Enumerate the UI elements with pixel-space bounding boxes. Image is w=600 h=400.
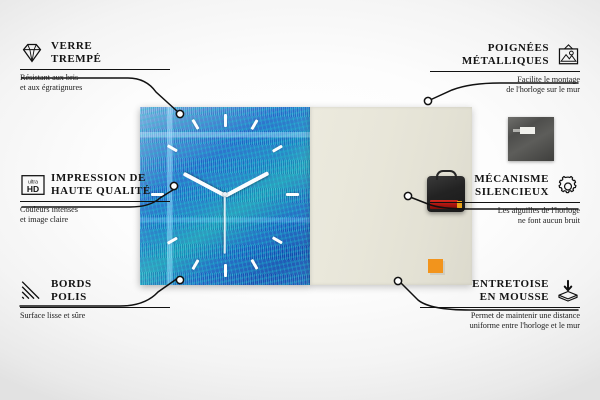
clock-tick [191,119,199,130]
callout-rule [20,201,170,202]
connector-dot [424,97,431,104]
clock-minute-hand [224,171,269,197]
clock-tick [167,145,178,153]
callout-sub-line1: Permet de maintenir une distance [420,311,580,321]
callout-mecanisme-silencieux: MÉCANISME SILENCIEUX Les aiguilles de l'… [430,173,580,227]
callout-rule [20,307,170,308]
clock-hour-hand [183,172,226,197]
foam-spacer [428,259,443,273]
clock-tick [224,264,227,277]
foam-spacer-icon [556,280,580,302]
callout-sub-line2: et aux égratignures [20,83,170,93]
clock-second-hand [224,195,226,253]
callout-poignees-metalliques: POIGNÉES MÉTALLIQUES Facilite le montage… [430,42,580,96]
product-image [140,107,472,285]
callout-title-line2: EN MOUSSE [472,291,549,304]
callout-title-line2: HAUTE QUALITÉ [51,185,151,198]
ultra-hd-icon: ultra HD [20,174,44,196]
clock-tick [191,259,199,270]
clock-tick [224,114,227,127]
callout-title-line1: BORDS [51,278,92,291]
callout-verre-trempe: VERRE TREMPÉ Résistant aux bris et aux é… [20,40,170,94]
callout-title-line1: VERRE [51,40,101,53]
callout-title-line1: POIGNÉES [462,42,549,55]
callout-rule [420,307,580,308]
polished-edge-icon [20,280,44,302]
clock-tick [250,259,258,270]
callout-title-line2: MÉTALLIQUES [462,55,549,68]
diamond-icon [20,42,44,64]
callout-sub-line2: uniforme entre l'horloge et le mur [420,321,580,331]
callout-sub-line1: Surface lisse et sûre [20,311,170,321]
callout-sub-line2: de l'horloge sur le mur [430,85,580,95]
clock-center-pin [223,192,227,196]
callout-sub-line1: Les aiguilles de l'horloge [430,206,580,216]
clock-tick [272,237,283,245]
callout-entretoise-en-mousse: ENTRETOISE EN MOUSSE Permet de maintenir… [420,278,580,332]
callout-impression-hd: ultra HD IMPRESSION DE HAUTE QUALITÉ Cou… [20,172,170,226]
clock-tick [167,237,178,245]
callout-bords-polis: BORDS POLIS Surface lisse et sûre [20,278,170,321]
metal-hanger-plate [508,117,554,161]
clock-tick [272,145,283,153]
callout-sub-line2: et image claire [20,215,170,225]
callout-sub-line2: ne font aucun bruit [430,216,580,226]
callout-title-line1: MÉCANISME [474,173,549,186]
callout-title-line1: IMPRESSION DE [51,172,151,185]
svg-text:HD: HD [27,183,39,193]
callout-sub-line1: Couleurs intenses [20,205,170,215]
callout-sub-line1: Facilite le montage [430,75,580,85]
clock-tick [250,119,258,130]
gear-icon [556,175,580,197]
hanging-frame-icon [556,44,580,66]
callout-title-line2: POLIS [51,291,92,304]
callout-title-line2: TREMPÉ [51,53,101,66]
infographic-canvas: VERRE TREMPÉ Résistant aux bris et aux é… [0,0,600,400]
callout-rule [430,71,580,72]
callout-rule [430,202,580,203]
callout-rule [20,69,170,70]
callout-sub-line1: Résistant aux bris [20,73,170,83]
clock-tick [286,193,299,196]
callout-title-line1: ENTRETOISE [472,278,549,291]
callout-title-line2: SILENCIEUX [474,186,549,199]
